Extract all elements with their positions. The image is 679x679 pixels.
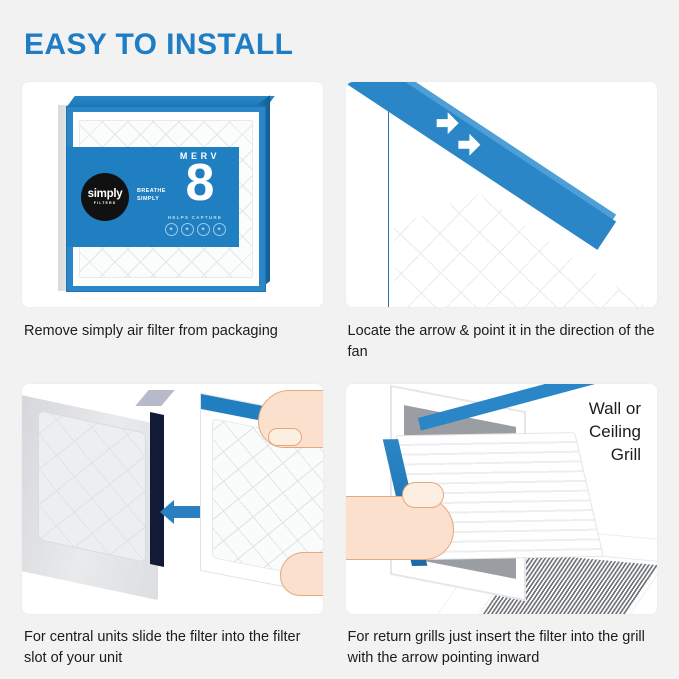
step-1: simply FILTERS BREATHE SIMPLY MERV 8 HEL… (0, 82, 340, 362)
infographic-page: EASY TO INSTALL (0, 0, 679, 679)
leaf-icon: ✦ (165, 223, 178, 236)
tagline-line-1: BREATHE (137, 187, 166, 195)
logo-wordmark: simply (88, 189, 123, 201)
label-line-2: Ceiling (521, 421, 641, 444)
step-1-image-card: simply FILTERS BREATHE SIMPLY MERV 8 HEL… (22, 82, 323, 307)
step-1-caption: Remove simply air filter from packaging (24, 321, 320, 342)
merv-rating-number: 8 (163, 157, 237, 209)
tagline-line-2: SIMPLY (137, 195, 166, 203)
filter-arrow-illustration (346, 82, 658, 307)
step-3-image-card (22, 384, 323, 614)
step-4-image-card: ⟶ Wall or Ceiling Grill (346, 384, 658, 614)
box-front-face: simply FILTERS BREATHE SIMPLY MERV 8 HEL… (66, 106, 266, 292)
label-line-1: Wall or (521, 398, 641, 421)
thumb-upper (268, 428, 302, 446)
dust-icon: ✦ (213, 223, 226, 236)
step-2-image-card (346, 82, 658, 307)
hvac-unit-face (38, 410, 146, 563)
grill-illustration: ⟶ Wall or Ceiling Grill (346, 384, 658, 614)
central-unit-illustration (22, 384, 323, 614)
pollen-icon: ✦ (181, 223, 194, 236)
tagline: BREATHE SIMPLY (137, 187, 166, 203)
logo-subtext: FILTERS (94, 201, 116, 205)
wall-ceiling-grill-label: Wall or Ceiling Grill (521, 398, 641, 467)
product-box-illustration: simply FILTERS BREATHE SIMPLY MERV 8 HEL… (58, 96, 278, 296)
step-4-caption: For return grills just insert the filter… (348, 627, 666, 668)
steps-row-bottom: For central units slide the filter into … (0, 384, 679, 668)
step-3-caption: For central units slide the filter into … (24, 627, 320, 668)
step-2: Locate the arrow & point it in the direc… (340, 82, 679, 362)
bacteria-icon: ✦ (197, 223, 210, 236)
helps-capture-label: HELPS CAPTURE (155, 215, 235, 220)
thumb-holding-grill (402, 482, 444, 508)
steps-row-top: simply FILTERS BREATHE SIMPLY MERV 8 HEL… (0, 82, 679, 362)
label-line-3: Grill (521, 444, 641, 467)
step-2-caption: Locate the arrow & point it in the direc… (348, 321, 660, 362)
hand-lower (280, 552, 323, 596)
capture-icon-row: ✦ ✦ ✦ ✦ (155, 223, 235, 236)
steps-grid: simply FILTERS BREATHE SIMPLY MERV 8 HEL… (0, 82, 679, 668)
box-label-band: simply FILTERS BREATHE SIMPLY MERV 8 HEL… (67, 147, 239, 247)
filter-slot-opening (150, 412, 164, 567)
filter-frame-line (388, 108, 390, 307)
hvac-unit-top-lip (135, 390, 174, 406)
step-3: For central units slide the filter into … (0, 384, 340, 668)
step-4: ⟶ Wall or Ceiling Grill For return grill… (340, 384, 679, 668)
brand-logo: simply FILTERS (81, 173, 129, 221)
page-title: EASY TO INSTALL (24, 28, 293, 62)
